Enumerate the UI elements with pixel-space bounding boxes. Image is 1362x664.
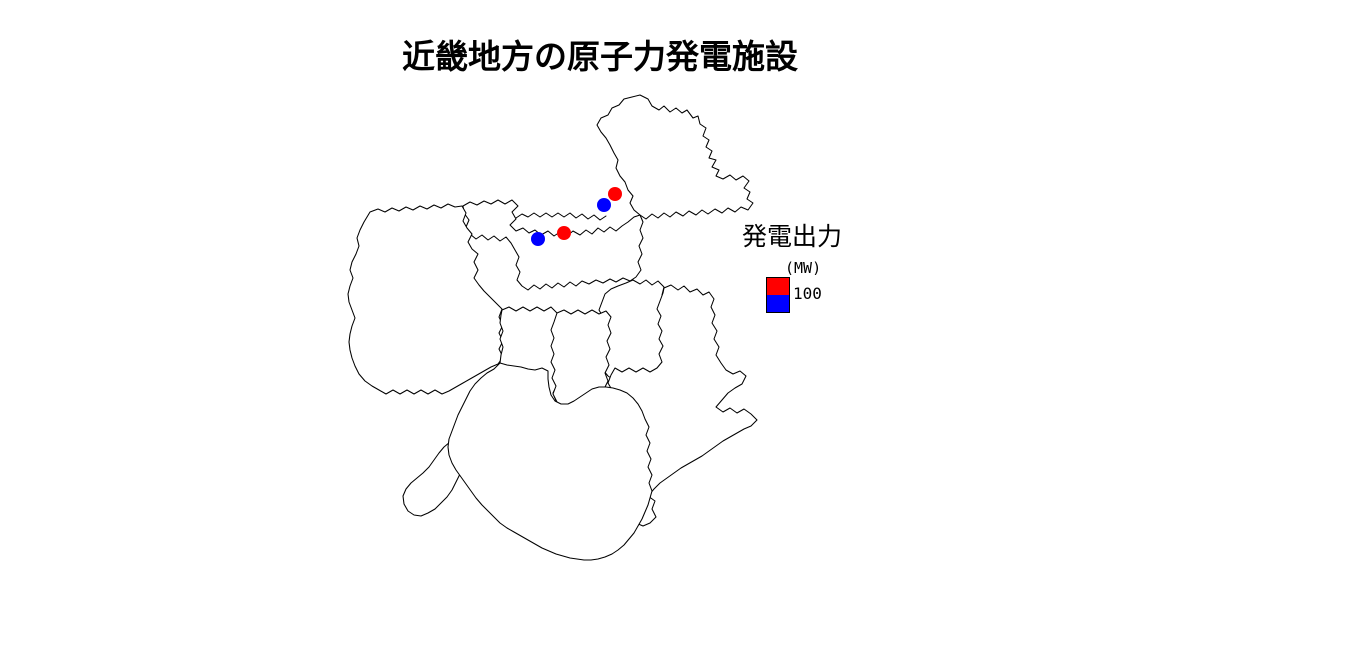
plant-marker-3[interactable] [597,198,611,212]
legend-value-label: 100 [793,284,822,303]
prefecture-fukui [597,95,753,219]
kinki-region-map [0,0,1362,664]
legend: 発電出力 (MW) 100 [742,222,922,332]
plant-marker-4[interactable] [608,187,622,201]
prefecture-wakayama [448,363,652,560]
plant-marker-1[interactable] [531,232,545,246]
legend-swatch-blue [767,295,789,312]
coastline-tango [516,213,606,220]
map-area [0,0,1362,664]
legend-swatch-red [767,278,789,295]
legend-unit-label: (MW) [785,260,821,277]
legend-title: 発電出力 [742,222,842,251]
prefecture-kyoto [463,200,643,290]
legend-swatch [766,277,790,313]
plant-marker-2[interactable] [557,226,571,240]
